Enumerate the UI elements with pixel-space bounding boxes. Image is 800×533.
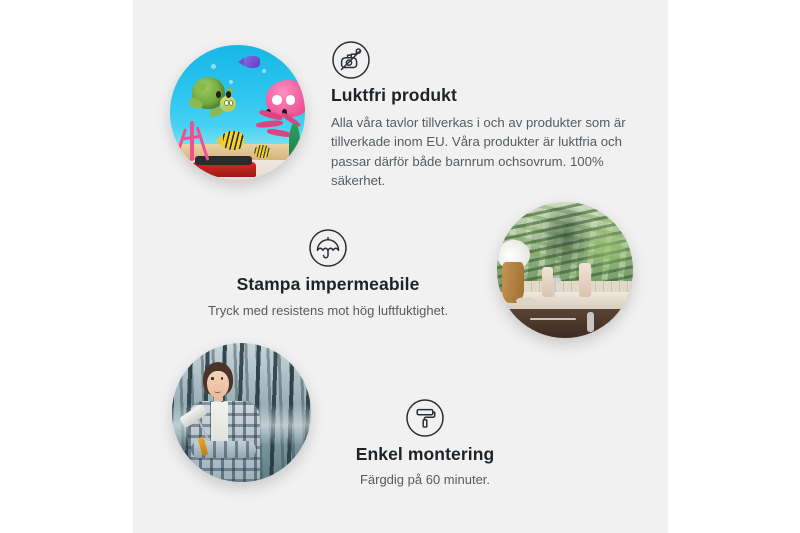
pink-coral	[174, 121, 212, 162]
octopus-tentacle	[256, 120, 283, 128]
feature-stampa-impermeabile: Stampa impermeabile Tryck med resistens …	[180, 228, 476, 320]
feature-body: Färgdig på 60 minuter.	[300, 470, 550, 489]
turtle-pupil-left	[216, 91, 221, 97]
feature-body: Tryck med resistens mot hög luftfuktighe…	[180, 301, 476, 320]
photo-woman-paint-roller-forest	[172, 343, 311, 482]
photo-bathroom-tropical-wallpaper	[497, 202, 633, 338]
yellow-striped-fish	[221, 131, 244, 150]
paint-roller-icon	[405, 398, 445, 438]
feature-luktfri-produkt: Luktfri produkt Alla våra tavlor tillver…	[331, 40, 631, 191]
red-sofa	[192, 162, 257, 177]
wood-vanity-cabinet	[497, 309, 633, 338]
yellow-striped-fish-small	[254, 145, 270, 159]
feature-title: Stampa impermeabile	[180, 274, 476, 296]
feature-title: Luktfri produkt	[331, 85, 631, 107]
purple-fish	[243, 56, 261, 68]
bottle	[542, 267, 553, 297]
bubble	[211, 64, 216, 69]
screenshot-root: Luktfri produkt Alla våra tavlor tillver…	[0, 0, 800, 533]
feature-title: Enkel montering	[300, 444, 550, 466]
underwater-scene	[170, 45, 305, 180]
photo-underwater-mural	[170, 45, 305, 180]
bubble	[262, 69, 266, 73]
turtle-flipper-rear	[209, 107, 224, 118]
umbrella-icon	[308, 228, 348, 268]
turtle-pupil-right	[226, 91, 231, 97]
turtle-illustration	[189, 77, 235, 118]
seaweed	[289, 123, 300, 164]
bathroom-scene	[497, 202, 633, 338]
bottle	[579, 263, 591, 297]
feature-enkel-montering: Enkel montering Färgdig på 60 minuter.	[300, 398, 550, 489]
woman-figure	[183, 362, 266, 482]
feature-body: Alla våra tavlor tillverkas i och av pro…	[331, 113, 631, 191]
no-fragrance-icon	[331, 40, 371, 80]
forest-wallpaper-scene	[172, 343, 311, 482]
